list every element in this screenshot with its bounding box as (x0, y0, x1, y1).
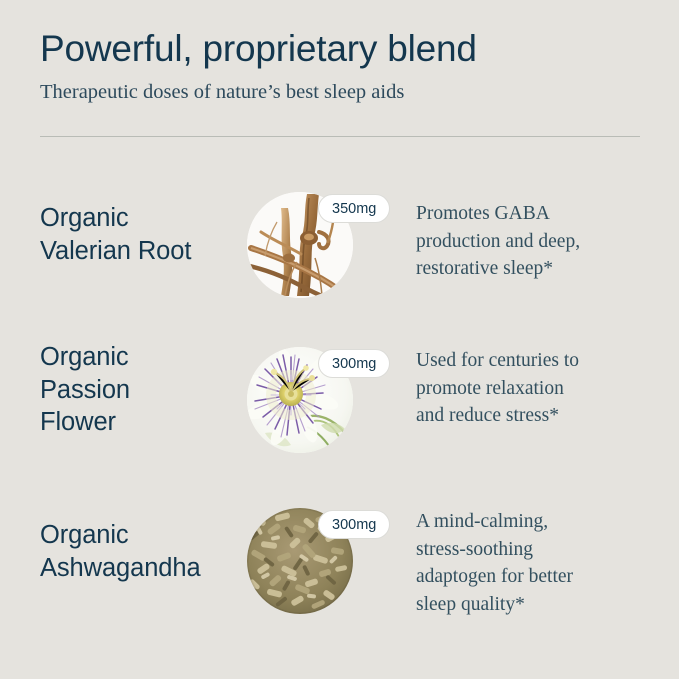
ingredient-description: A mind-calming, stress-soothing adaptoge… (416, 508, 646, 619)
ingredient-name-line: Flower (40, 406, 240, 439)
ingredient-media: 300mg (247, 347, 353, 453)
header-divider (40, 136, 640, 137)
ingredient-name: Organic Valerian Root (40, 202, 240, 267)
ingredient-name-line: Valerian Root (40, 235, 240, 268)
page-subtitle: Therapeutic doses of nature’s best sleep… (40, 80, 640, 105)
ingredient-description: Promotes GABA production and deep, resto… (416, 200, 646, 283)
ingredient-name-line: Organic (40, 341, 240, 374)
description-line: Promotes GABA (416, 200, 646, 228)
description-line: production and deep, (416, 228, 646, 256)
description-line: restorative sleep* (416, 255, 646, 283)
ingredient-row-ashwagandha: Organic Ashwagandha (0, 486, 679, 646)
ingredient-list: Organic Valerian Root (0, 176, 679, 646)
description-line: Used for centuries to (416, 347, 646, 375)
ingredient-blend-panel: Powerful, proprietary blend Therapeutic … (0, 0, 679, 679)
ingredient-name-line: Ashwagandha (40, 552, 240, 585)
ingredient-media: 300mg (247, 508, 353, 614)
description-line: promote relaxation (416, 375, 646, 403)
dose-badge: 350mg (318, 194, 390, 223)
description-line: and reduce stress* (416, 402, 646, 430)
ingredient-row-passion-flower: Organic Passion Flower (0, 331, 679, 486)
description-line: stress-soothing (416, 536, 646, 564)
ingredient-name-line: Organic (40, 519, 240, 552)
ingredient-name-line: Organic (40, 202, 240, 235)
ingredient-row-valerian-root: Organic Valerian Root (0, 176, 679, 331)
page-title: Powerful, proprietary blend (40, 28, 640, 69)
ingredient-name: Organic Passion Flower (40, 341, 240, 439)
description-line: sleep quality* (416, 591, 646, 619)
header: Powerful, proprietary blend Therapeutic … (40, 28, 640, 105)
description-line: A mind-calming, (416, 508, 646, 536)
ingredient-description: Used for centuries to promote relaxation… (416, 347, 646, 430)
dose-badge: 300mg (318, 510, 390, 539)
ingredient-name-line: Passion (40, 374, 240, 407)
description-line: adaptogen for better (416, 563, 646, 591)
ingredient-name: Organic Ashwagandha (40, 519, 240, 584)
ingredient-media: 350mg (247, 192, 353, 298)
dose-badge: 300mg (318, 349, 390, 378)
